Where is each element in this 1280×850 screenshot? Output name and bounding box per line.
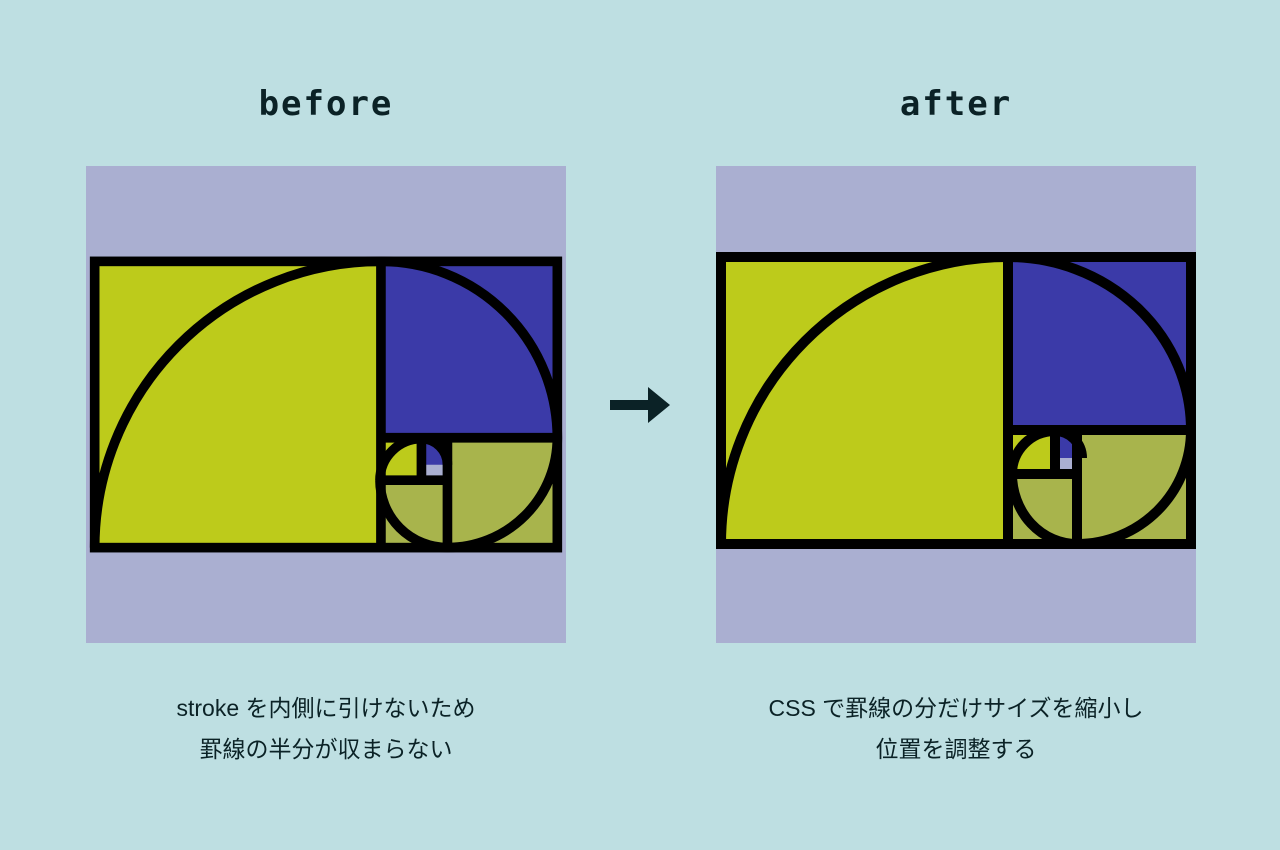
heading-before: before xyxy=(86,82,566,126)
illustration-stage: before xyxy=(0,0,1280,850)
caption-after: CSS で罫線の分だけサイズを縮小し 位置を調整する xyxy=(676,688,1236,770)
fills-after xyxy=(721,257,1191,544)
fills-before xyxy=(95,261,558,547)
figure-before xyxy=(86,247,566,562)
caption-before: stroke を内側に引けないため 罫線の半分が収まらない xyxy=(46,688,606,770)
figure-after xyxy=(716,252,1196,549)
arrow-svg xyxy=(608,385,672,425)
spiral-svg-before xyxy=(86,247,566,562)
caption-after-line-1: CSS で罫線の分だけサイズを縮小し xyxy=(676,688,1236,729)
caption-after-line-2: 位置を調整する xyxy=(676,729,1236,770)
caption-before-line-1: stroke を内側に引けないため xyxy=(46,688,606,729)
arrow-shape xyxy=(610,387,670,423)
caption-before-line-2: 罫線の半分が収まらない xyxy=(46,729,606,770)
spiral-svg-after xyxy=(716,252,1196,549)
panel-after xyxy=(716,166,1196,643)
heading-after: after xyxy=(716,82,1196,126)
right-arrow-icon xyxy=(596,372,684,438)
panel-before xyxy=(86,166,566,643)
